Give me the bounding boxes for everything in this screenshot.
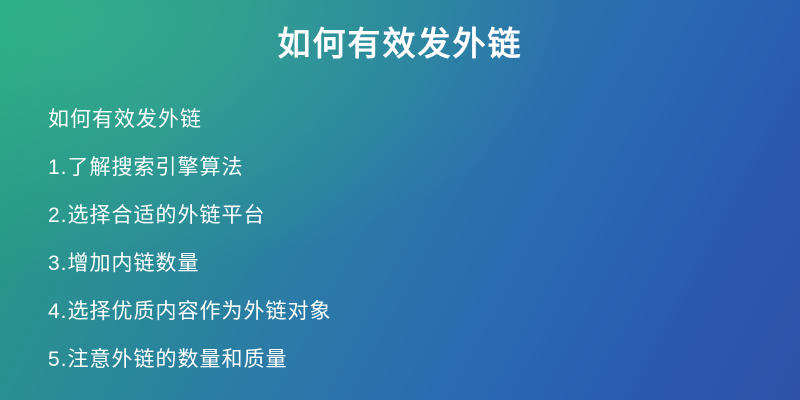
slide-canvas: 如何有效发外链 如何有效发外链 1.了解搜索引擎算法 2.选择合适的外链平台 3…: [0, 0, 800, 400]
list-item: 1.了解搜索引擎算法: [48, 144, 758, 192]
list-item: 2.选择合适的外链平台: [48, 192, 758, 240]
list-item: 5.注意外链的数量和质量: [48, 336, 758, 384]
list-item: 3.增加内链数量: [48, 240, 758, 288]
list-item: 如何有效发外链: [48, 96, 758, 144]
content-list: 如何有效发外链 1.了解搜索引擎算法 2.选择合适的外链平台 3.增加内链数量 …: [48, 96, 758, 384]
list-item: 4.选择优质内容作为外链对象: [48, 288, 758, 336]
page-title: 如何有效发外链: [0, 22, 800, 66]
